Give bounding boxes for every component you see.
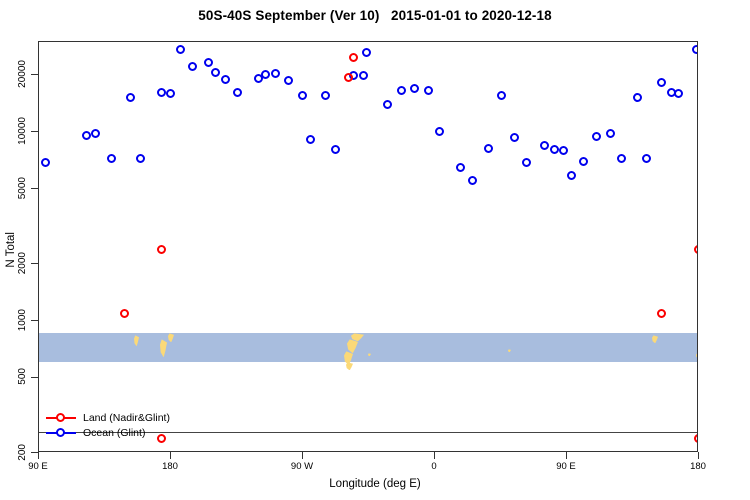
legend-label-ocean: Ocean (Glint) (83, 427, 145, 439)
y-tick-label: 20000 (17, 60, 28, 88)
y-tick-label: 1000 (17, 309, 28, 331)
x-tick-label: 180 (690, 461, 706, 472)
y-tick-label: 5000 (17, 177, 28, 199)
y-tick (31, 188, 38, 189)
x-tick (434, 452, 435, 459)
y-tick-label-wrap: 200 (8, 432, 28, 472)
x-tick (38, 452, 39, 459)
y-tick (31, 452, 38, 453)
legend-item-ocean[interactable]: Ocean (Glint) (46, 425, 170, 440)
x-axis-title: Longitude (deg E) (0, 478, 750, 490)
y-tick (31, 74, 38, 75)
y-tick-label-wrap: 20000 (8, 54, 28, 94)
x-tick-label: 90 W (291, 461, 313, 472)
chart-title: 50S-40S September (Ver 10) 2015-01-01 to… (0, 8, 750, 23)
x-tick (566, 452, 567, 459)
y-tick (31, 131, 38, 132)
y-tick-label-wrap: 10000 (8, 111, 28, 151)
y-tick-label: 2000 (17, 252, 28, 274)
y-tick (31, 377, 38, 378)
x-tick-label: 0 (431, 461, 436, 472)
x-tick-label: 90 E (556, 461, 576, 472)
legend-label-land: Land (Nadir&Glint) (83, 412, 170, 424)
y-tick-label: 500 (17, 368, 28, 385)
y-tick (31, 263, 38, 264)
y-tick-label: 200 (17, 444, 28, 461)
plot-frame (38, 41, 698, 452)
chart-legend: Land (Nadir&Glint)Ocean (Glint) (46, 410, 170, 440)
y-tick-label-wrap: 5000 (8, 168, 28, 208)
y-tick (31, 320, 38, 321)
legend-marker-land-icon (46, 412, 76, 424)
y-tick-label: 10000 (17, 117, 28, 145)
y-tick-label-wrap: 500 (8, 357, 28, 397)
x-tick (698, 452, 699, 459)
y-tick-label-wrap: 2000 (8, 243, 28, 283)
legend-item-land[interactable]: Land (Nadir&Glint) (46, 410, 170, 425)
x-tick-label: 90 E (28, 461, 48, 472)
chart-screenshot: 50S-40S September (Ver 10) 2015-01-01 to… (0, 0, 750, 500)
x-tick (170, 452, 171, 459)
x-tick-label: 180 (162, 461, 178, 472)
legend-marker-ocean-icon (46, 427, 76, 439)
x-tick (302, 452, 303, 459)
y-tick-label-wrap: 1000 (8, 300, 28, 340)
